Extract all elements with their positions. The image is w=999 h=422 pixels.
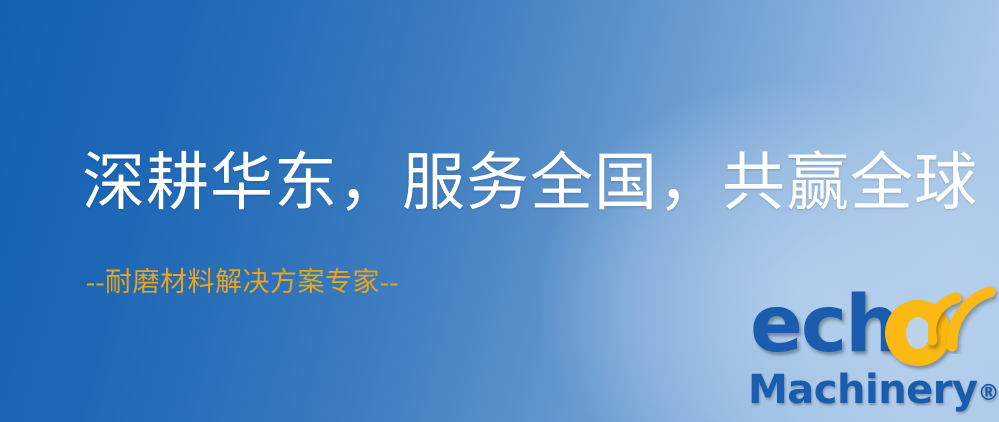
logo-mark: ech bbox=[742, 292, 994, 372]
banner-subtitle: --耐磨材料解决方案专家-- bbox=[86, 266, 399, 298]
logo-wordmark-text: Machinery bbox=[748, 367, 978, 413]
banner-headline: 深耕华东，服务全国，共赢全球 bbox=[82, 148, 978, 219]
hero-banner: 深耕华东，服务全国，共赢全球 --耐磨材料解决方案专家-- ech Machin… bbox=[0, 0, 999, 422]
logo-brand-text: ech bbox=[750, 286, 899, 364]
signal-waves-icon bbox=[928, 284, 999, 354]
company-logo[interactable]: ech Machinery® bbox=[742, 292, 994, 420]
logo-wordmark: Machinery® bbox=[748, 370, 999, 410]
registered-trademark-symbol: ® bbox=[978, 381, 999, 406]
